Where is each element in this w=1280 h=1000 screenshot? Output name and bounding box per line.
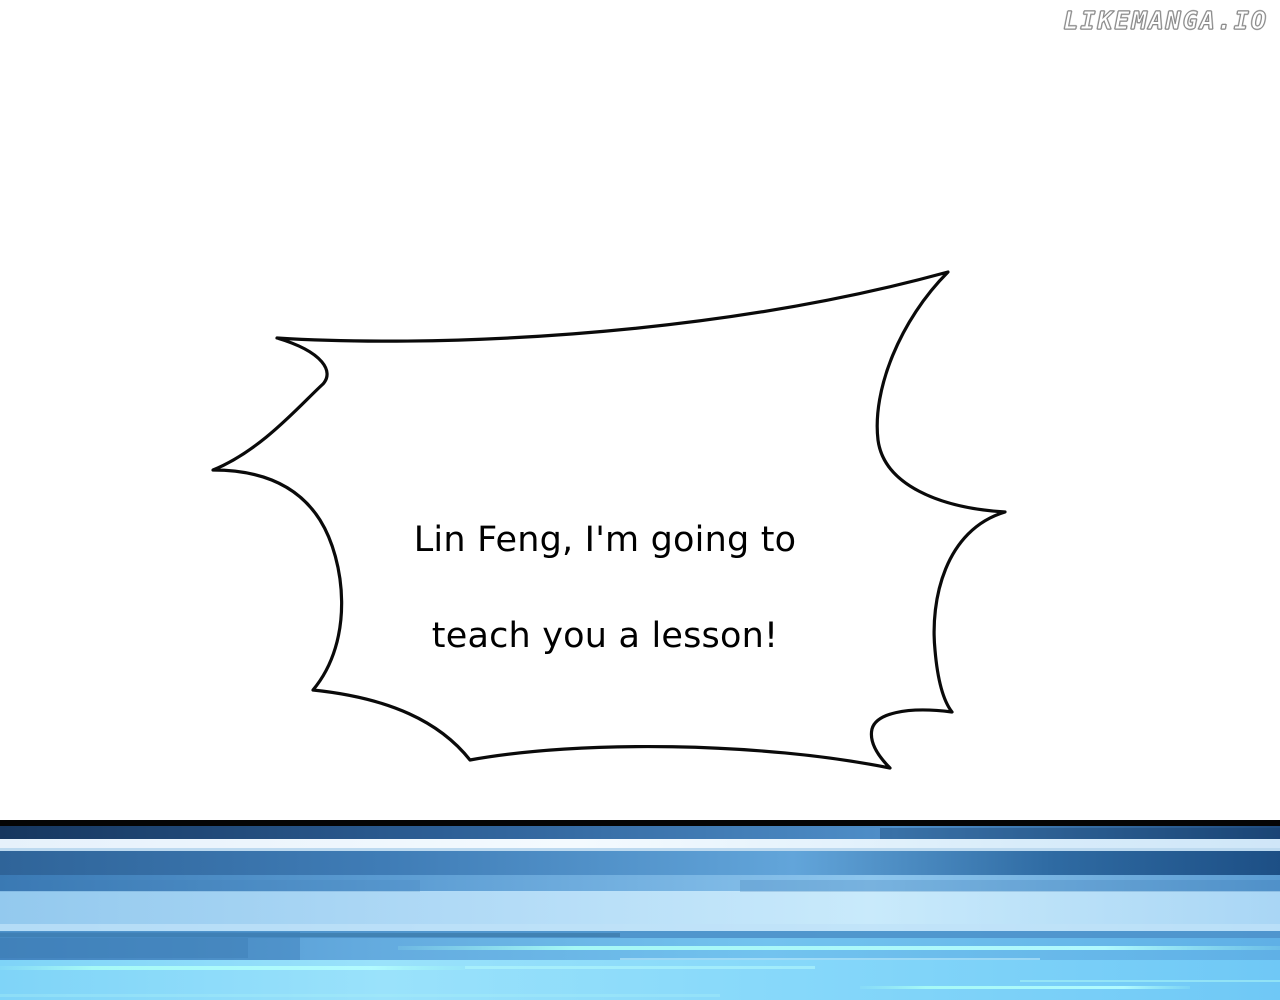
speech-line-1: Lin Feng, I'm going to — [330, 516, 880, 564]
blue-speed-streak-band — [0, 820, 1280, 1000]
art-area: Lin Feng, I'm going to teach you a lesso… — [0, 0, 1280, 820]
speed-streak-graphic — [0, 820, 1280, 1000]
manga-panel: Lin Feng, I'm going to teach you a lesso… — [0, 0, 1280, 1000]
speech-line-2: teach you a lesson! — [330, 612, 880, 660]
watermark-likemanga: LIKEMANGA.IO — [1063, 6, 1268, 35]
speech-bubble-text: Lin Feng, I'm going to teach you a lesso… — [330, 468, 880, 708]
